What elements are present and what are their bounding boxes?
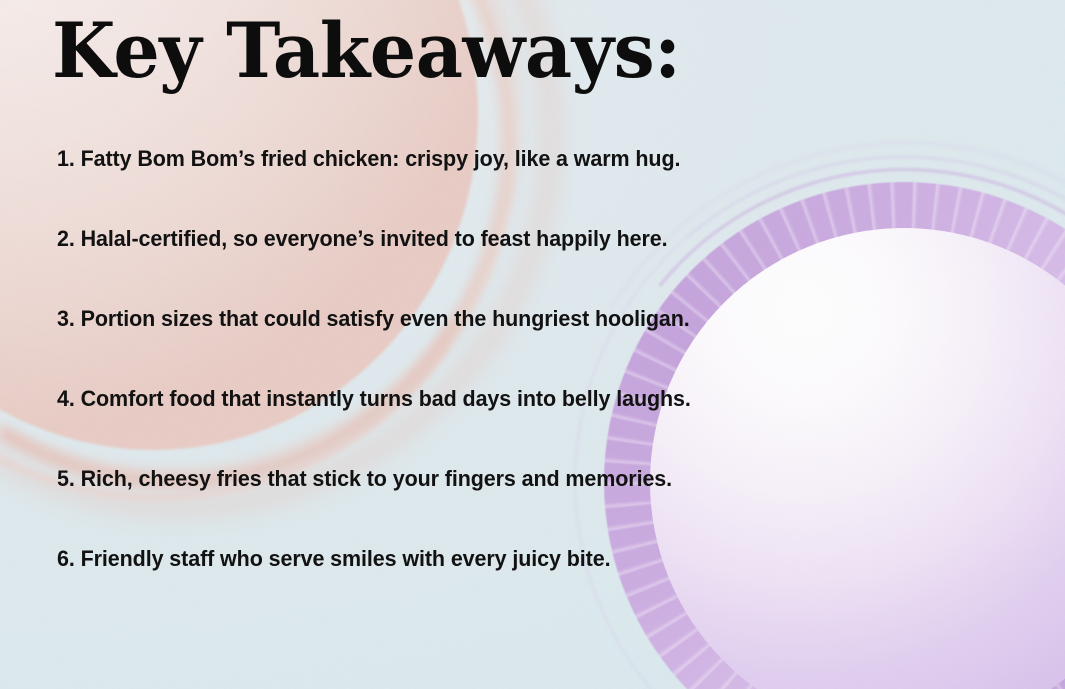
list-item: 6. Friendly staff who serve smiles with … xyxy=(57,548,1001,628)
list-item: 4. Comfort food that instantly turns bad… xyxy=(57,388,1001,468)
list-item: 2. Halal-certified, so everyone’s invite… xyxy=(57,228,1001,308)
page-title: Key Takeaways: xyxy=(52,11,681,92)
key-takeaways-poster: Key Takeaways: 1. Fatty Bom Bom’s fried … xyxy=(0,0,1065,689)
takeaways-list: 1. Fatty Bom Bom’s fried chicken: crispy… xyxy=(57,148,1045,628)
list-item: 3. Portion sizes that could satisfy even… xyxy=(57,308,1001,388)
list-item: 1. Fatty Bom Bom’s fried chicken: crispy… xyxy=(57,148,1001,228)
poster-content: Key Takeaways: 1. Fatty Bom Bom’s fried … xyxy=(0,0,1065,689)
list-item: 5. Rich, cheesy fries that stick to your… xyxy=(57,468,1001,548)
